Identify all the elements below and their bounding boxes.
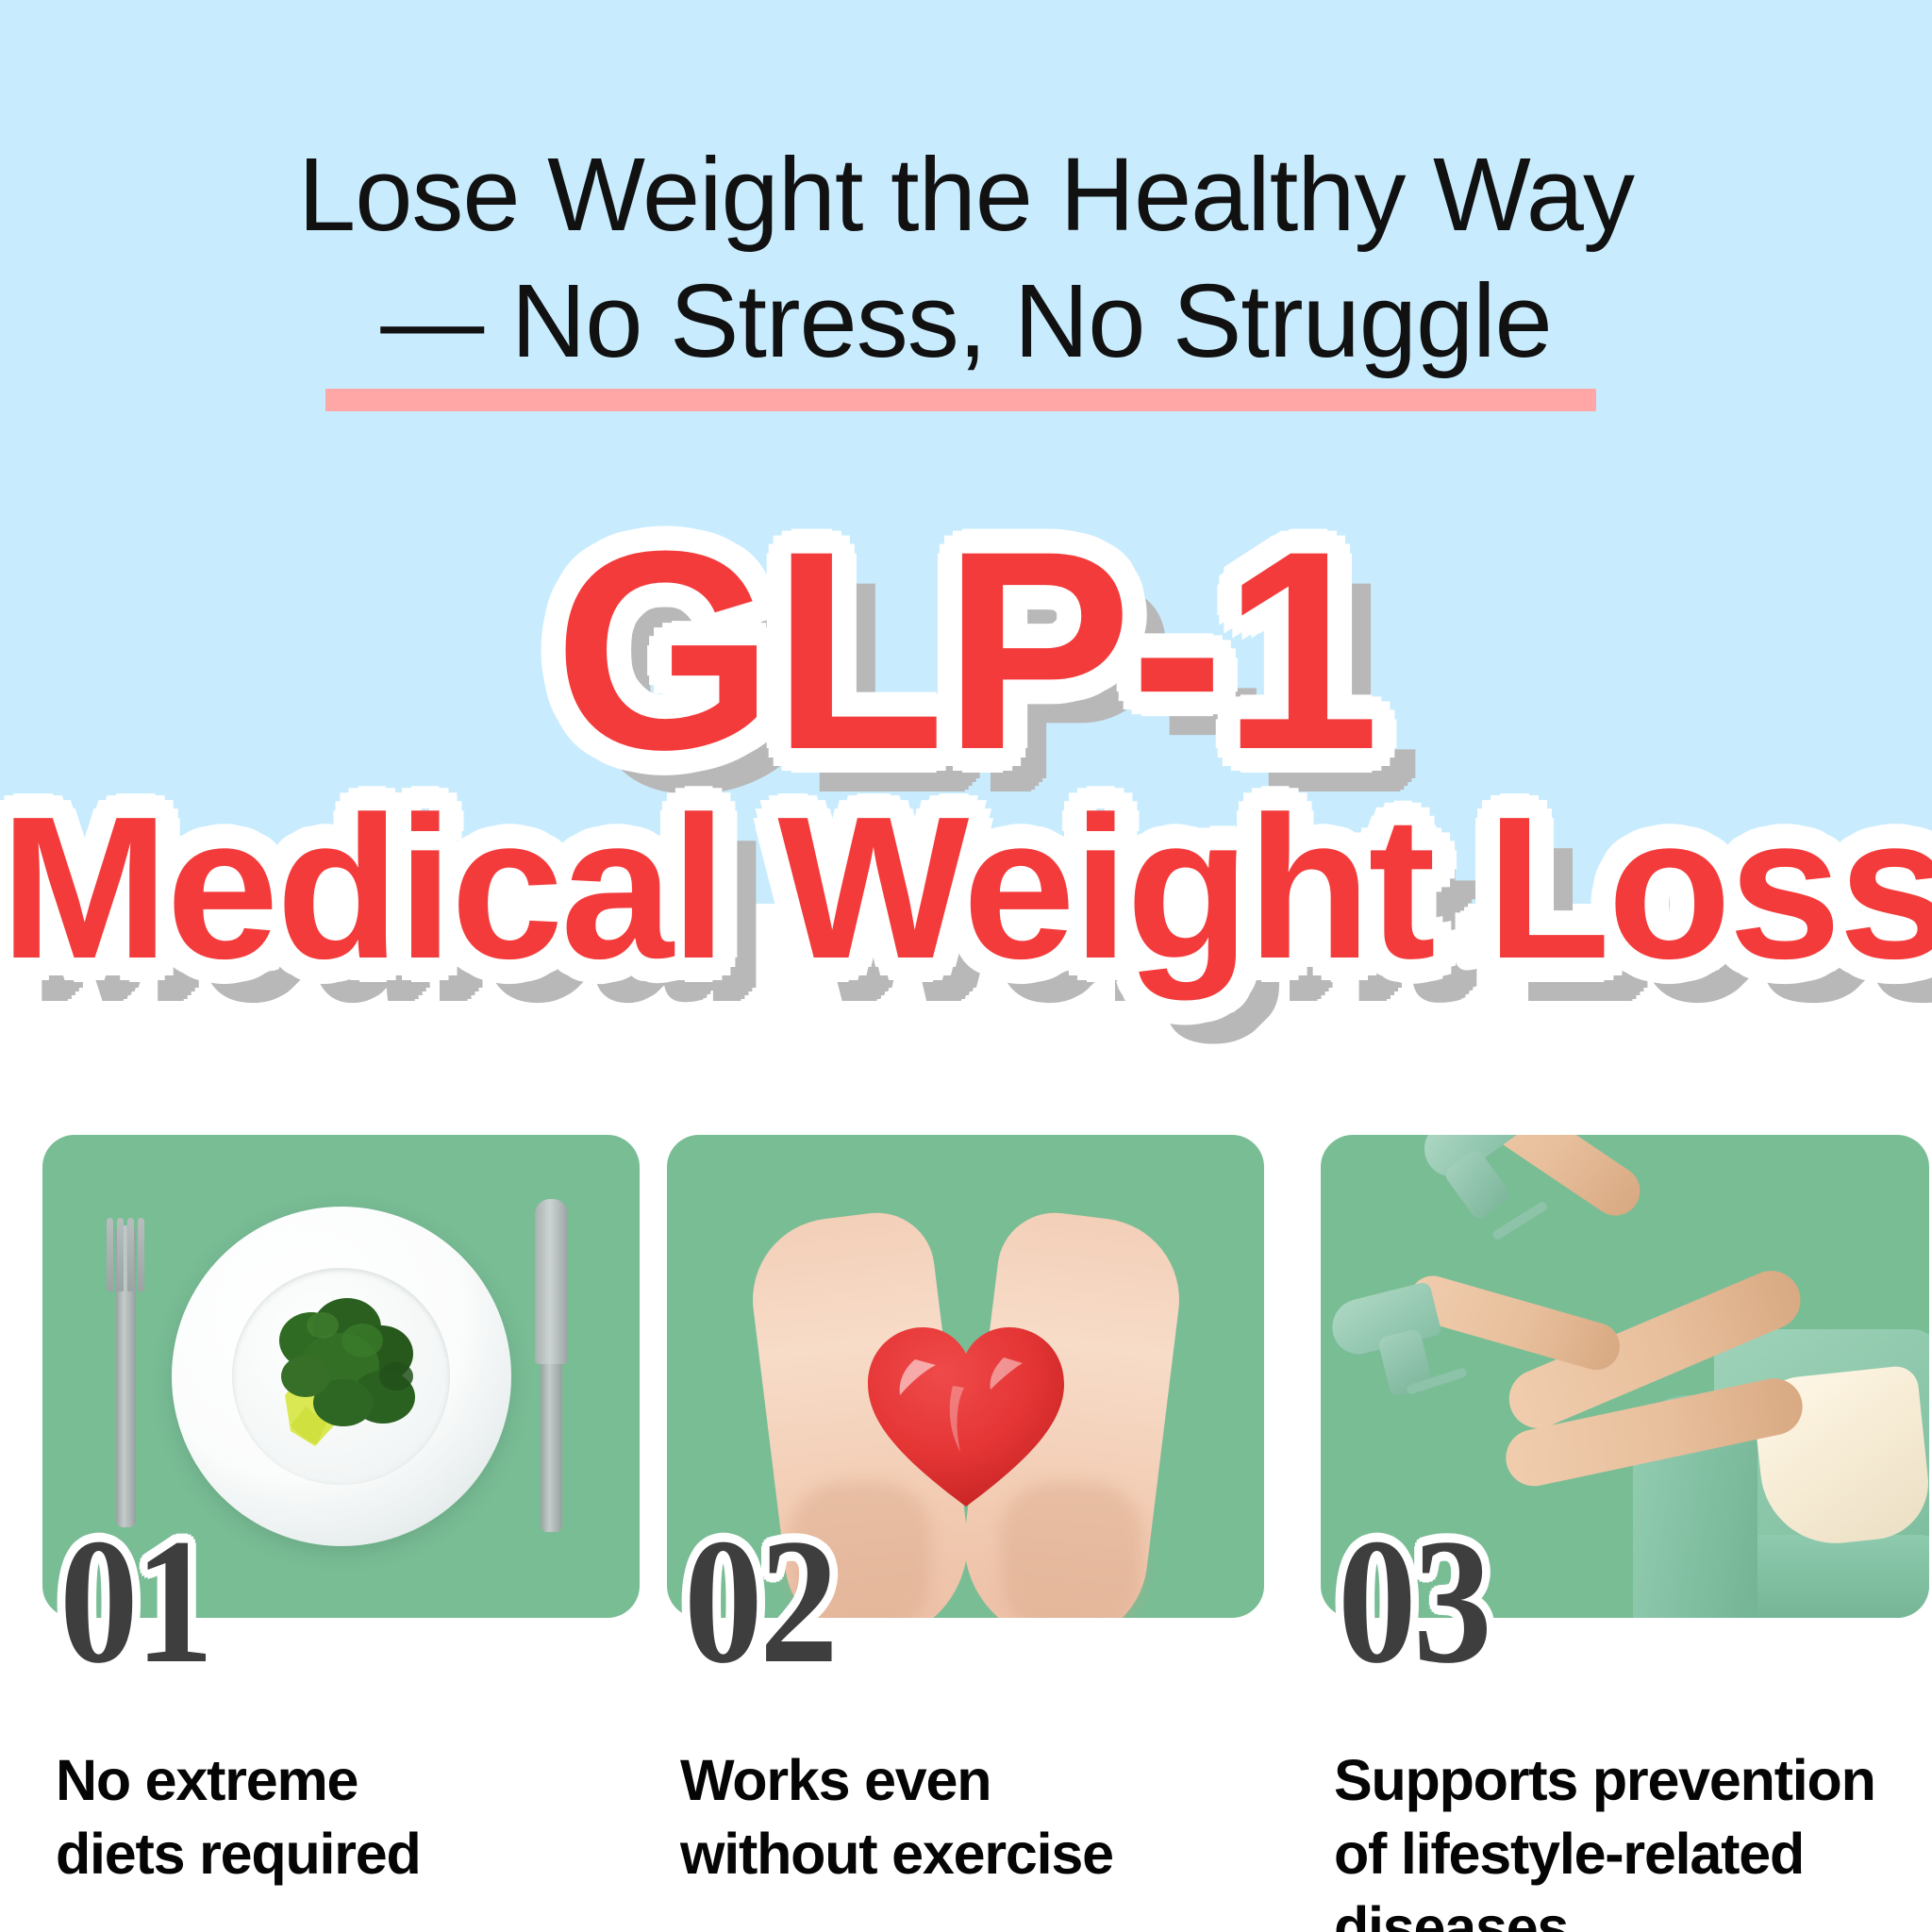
knife-blade-icon [535,1199,568,1364]
card-2-caption-line-1: Works even [680,1743,1284,1817]
card-2-caption-line-2: without exercise [680,1817,1284,1890]
card-2-caption: Works even without exercise [680,1743,1284,1890]
feature-card-1[interactable]: 01 No extreme diets required [42,1135,640,1618]
headline-underline-bar [325,389,1596,411]
feature-card-row: 01 No extreme diets required [0,1135,1932,1932]
card-3-number: 03 [1338,1512,1489,1691]
broccoli-icon [249,1282,434,1461]
headline-line-1: Lose Weight the Healthy Way [0,132,1932,258]
infographic-poster: Lose Weight the Healthy Way — No Stress,… [0,0,1932,1932]
ankle-strap-a [1491,1200,1548,1241]
brand-subtitle-medical-weight-loss: Medical Weight Loss [0,786,1932,989]
card-3-caption-line-3: diseases [1334,1890,1932,1932]
brand-lockup: GLP-1 Medical Weight Loss [0,514,1932,989]
card-3-caption-line-2: of lifestyle-related [1334,1817,1932,1890]
page-title: Lose Weight the Healthy Way — No Stress,… [0,132,1932,385]
headline-line-2: — No Stress, No Struggle [0,258,1932,385]
card-1-number: 01 [59,1512,210,1691]
heart-icon [862,1320,1070,1518]
feature-card-2[interactable]: 02 Works even without exercise [667,1135,1264,1618]
card-1-caption-line-1: No extreme [56,1743,659,1817]
card-1-caption-line-2: diets required [56,1817,659,1890]
feature-card-3[interactable]: 03 Supports prevention of lifestyle-rela… [1321,1135,1929,1618]
card-3-caption-line-1: Supports prevention [1334,1743,1932,1817]
card-3-caption: Supports prevention of lifestyle-related… [1334,1743,1932,1932]
card-1-caption: No extreme diets required [56,1743,659,1890]
brand-title-glp1: GLP-1 [0,514,1932,786]
card-2-number: 02 [684,1512,835,1691]
fork-tines-icon [107,1218,145,1316]
